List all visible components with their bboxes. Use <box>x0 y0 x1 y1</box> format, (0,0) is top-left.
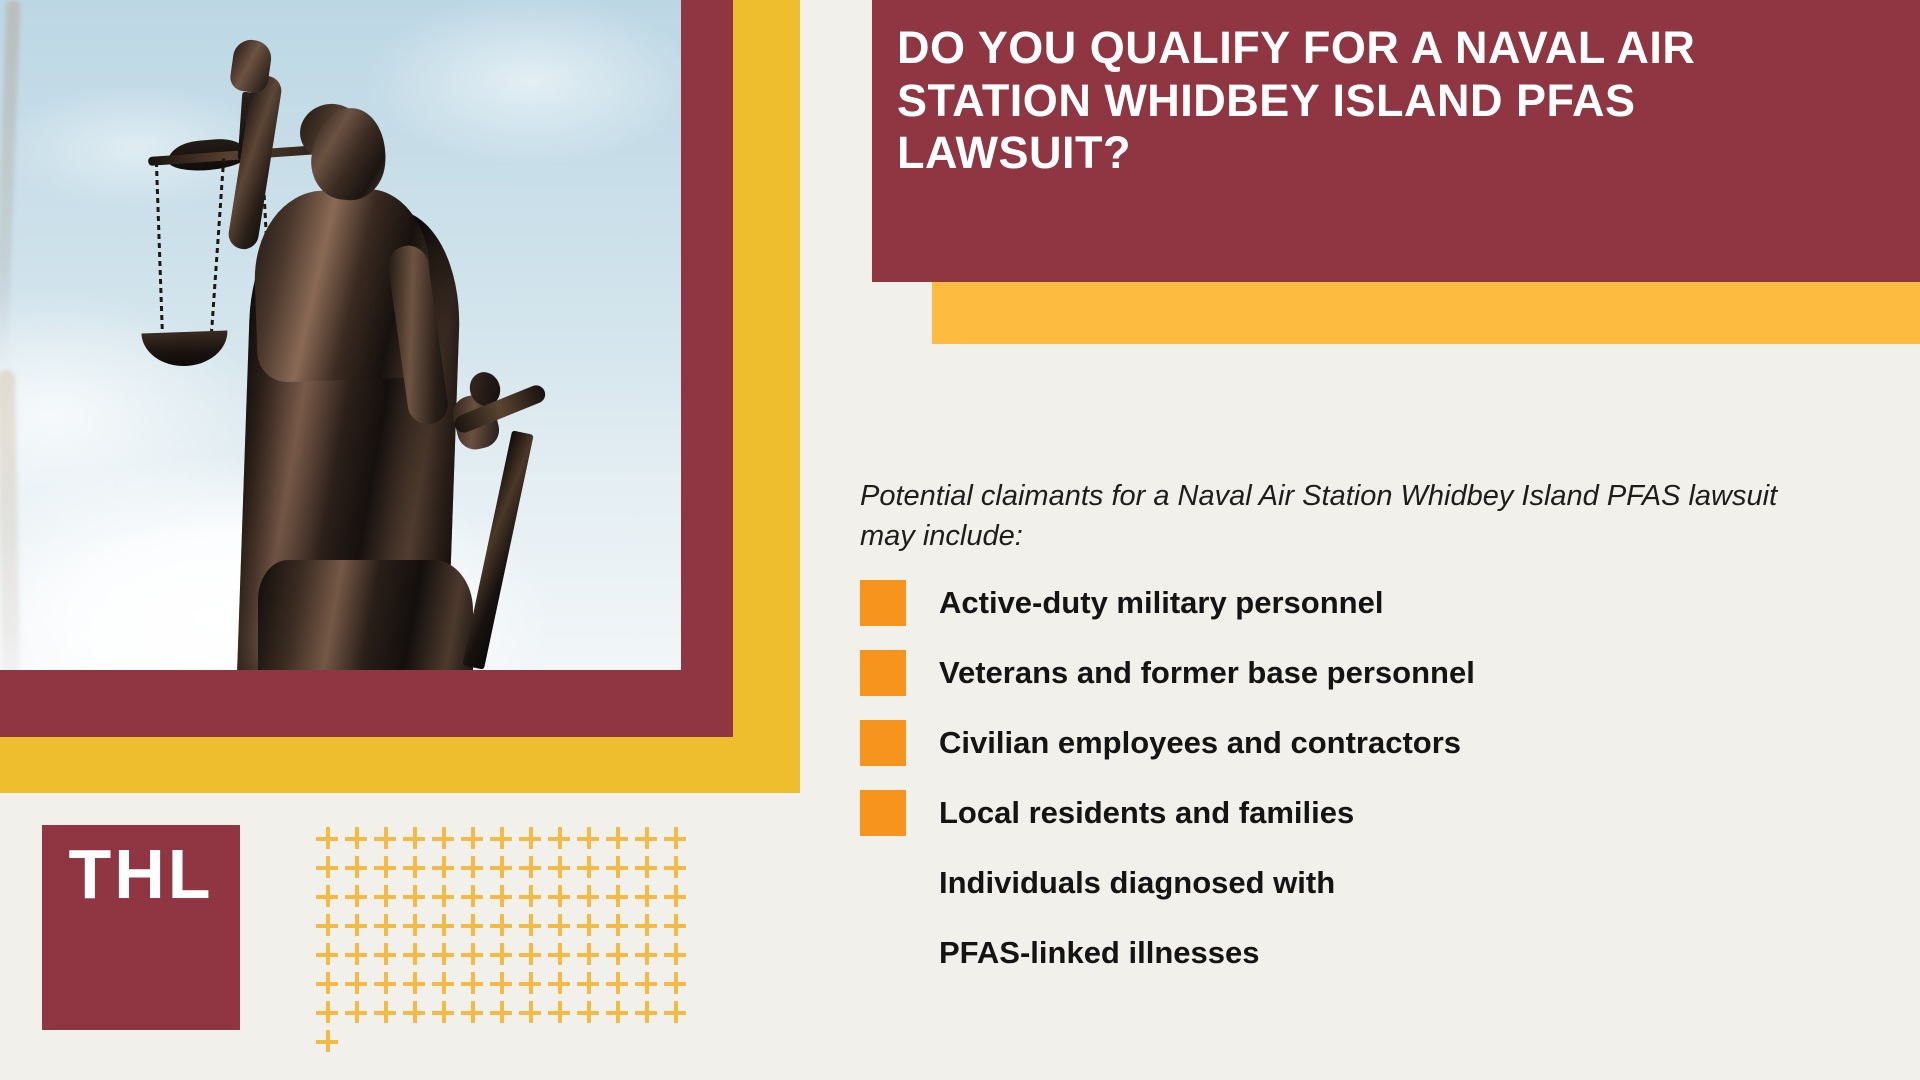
robe-fold <box>0 0 20 370</box>
plus-icon <box>371 824 400 853</box>
poster-canvas: THL <box>0 0 1920 1080</box>
photo-frame-maroon <box>0 0 733 737</box>
plus-icon <box>516 853 545 882</box>
list-item: Local residents and families <box>860 778 1870 848</box>
plus-icon <box>632 969 661 998</box>
plus-icon <box>371 940 400 969</box>
plus-icon <box>545 998 574 1027</box>
plus-icon <box>313 853 342 882</box>
plus-icon <box>458 824 487 853</box>
list-item: Civilian employees and contractors <box>860 708 1870 778</box>
list-item: Veterans and former base personnel <box>860 638 1870 708</box>
plus-icon <box>632 911 661 940</box>
page-title: DO YOU QUALIFY FOR A NAVAL AIR STATION W… <box>897 22 1717 180</box>
plus-icon <box>429 940 458 969</box>
plus-icon <box>661 969 690 998</box>
plus-icon <box>342 824 371 853</box>
plus-icon <box>400 824 429 853</box>
plus-icon <box>487 911 516 940</box>
plus-icon <box>429 882 458 911</box>
plus-icon <box>487 940 516 969</box>
plus-icon <box>429 824 458 853</box>
bullet-square-icon <box>860 650 906 696</box>
bullet-square-icon <box>860 720 906 766</box>
plus-icon <box>400 969 429 998</box>
plus-icon <box>603 998 632 1027</box>
plus-icon <box>545 853 574 882</box>
plus-icon <box>661 998 690 1027</box>
plus-icon <box>516 882 545 911</box>
plus-icon <box>487 882 516 911</box>
plus-icon <box>516 911 545 940</box>
plus-icon <box>342 940 371 969</box>
scales-pan-left <box>141 331 228 368</box>
list-item-label: Veterans and former base personnel <box>939 656 1475 690</box>
frame-band-maroon <box>0 670 733 737</box>
plus-icon <box>516 824 545 853</box>
plus-icon <box>661 824 690 853</box>
statue-skirt <box>258 560 473 670</box>
plus-icon <box>545 824 574 853</box>
plus-icon <box>342 998 371 1027</box>
list-item-label: Local residents and families <box>939 796 1354 830</box>
list-item-label: Civilian employees and contractors <box>939 726 1461 760</box>
list-item-label: Active-duty military personnel <box>939 586 1383 620</box>
plus-icon <box>342 911 371 940</box>
plus-icon <box>545 940 574 969</box>
header-banner: DO YOU QUALIFY FOR A NAVAL AIR STATION W… <box>872 0 1920 282</box>
plus-icon <box>400 940 429 969</box>
scales-chain <box>155 162 164 340</box>
plus-icon <box>429 969 458 998</box>
claimants-list: Active-duty military personnel Veterans … <box>860 568 1870 988</box>
plus-icon <box>574 969 603 998</box>
bullet-square-icon <box>860 790 906 836</box>
plus-icon <box>603 824 632 853</box>
thl-logo[interactable]: THL <box>42 825 240 1030</box>
plus-icon <box>400 911 429 940</box>
header-accent-bar <box>932 282 1920 344</box>
plus-icon <box>458 911 487 940</box>
plus-icon <box>632 998 661 1027</box>
plus-icon <box>371 969 400 998</box>
plus-icon <box>661 940 690 969</box>
robe-fold <box>0 370 21 670</box>
plus-icon <box>574 998 603 1027</box>
plus-icon <box>458 853 487 882</box>
frame-band-yellow <box>0 737 800 793</box>
plus-icon <box>342 882 371 911</box>
plus-icon <box>661 882 690 911</box>
plus-icon <box>371 911 400 940</box>
plus-icon <box>516 969 545 998</box>
list-item-label: Individuals diagnosed with <box>939 866 1335 900</box>
plus-icon <box>603 969 632 998</box>
plus-icon <box>458 969 487 998</box>
plus-pattern-grid <box>313 824 690 1056</box>
plus-icon <box>429 911 458 940</box>
plus-icon <box>313 940 342 969</box>
plus-icon <box>545 882 574 911</box>
plus-icon <box>632 853 661 882</box>
plus-icon <box>574 911 603 940</box>
plus-icon <box>313 911 342 940</box>
plus-icon <box>458 940 487 969</box>
plus-icon <box>400 882 429 911</box>
plus-icon <box>632 824 661 853</box>
intro-paragraph: Potential claimants for a Naval Air Stat… <box>860 476 1790 556</box>
plus-icon <box>458 882 487 911</box>
list-item: Active-duty military personnel <box>860 568 1870 638</box>
plus-icon <box>545 969 574 998</box>
sword-blade <box>462 430 533 669</box>
list-item: PFAS-linked illnesses <box>860 918 1870 988</box>
statue-figure <box>0 0 681 670</box>
list-item-label: PFAS-linked illnesses <box>939 936 1259 970</box>
plus-icon <box>603 940 632 969</box>
plus-icon <box>603 882 632 911</box>
bullet-square-icon <box>860 580 906 626</box>
plus-icon <box>371 998 400 1027</box>
list-item: Individuals diagnosed with <box>860 848 1870 918</box>
bullet-square-icon-empty <box>860 860 906 906</box>
plus-icon <box>400 853 429 882</box>
plus-icon <box>371 853 400 882</box>
plus-icon <box>603 911 632 940</box>
plus-icon <box>487 969 516 998</box>
plus-icon <box>632 882 661 911</box>
plus-icon <box>342 969 371 998</box>
plus-icon <box>632 940 661 969</box>
plus-icon <box>313 1027 342 1056</box>
plus-icon <box>545 911 574 940</box>
lady-justice-statue-photo <box>0 0 681 670</box>
plus-icon <box>661 911 690 940</box>
plus-icon <box>400 998 429 1027</box>
plus-icon <box>487 853 516 882</box>
plus-icon <box>516 940 545 969</box>
plus-icon <box>371 882 400 911</box>
plus-icon <box>313 882 342 911</box>
plus-icon <box>429 853 458 882</box>
plus-icon <box>313 998 342 1027</box>
plus-icon <box>487 824 516 853</box>
plus-icon <box>458 998 487 1027</box>
plus-icon <box>574 824 603 853</box>
plus-icon <box>429 998 458 1027</box>
plus-icon <box>574 853 603 882</box>
scales-chain <box>210 158 225 336</box>
plus-icon <box>574 882 603 911</box>
plus-icon <box>574 940 603 969</box>
plus-icon <box>313 969 342 998</box>
thl-logo-text: THL <box>42 839 240 909</box>
plus-icon <box>603 853 632 882</box>
plus-icon <box>313 824 342 853</box>
bullet-square-icon-empty <box>860 930 906 976</box>
plus-icon <box>516 998 545 1027</box>
plus-icon <box>487 998 516 1027</box>
plus-icon <box>661 853 690 882</box>
plus-icon <box>342 853 371 882</box>
